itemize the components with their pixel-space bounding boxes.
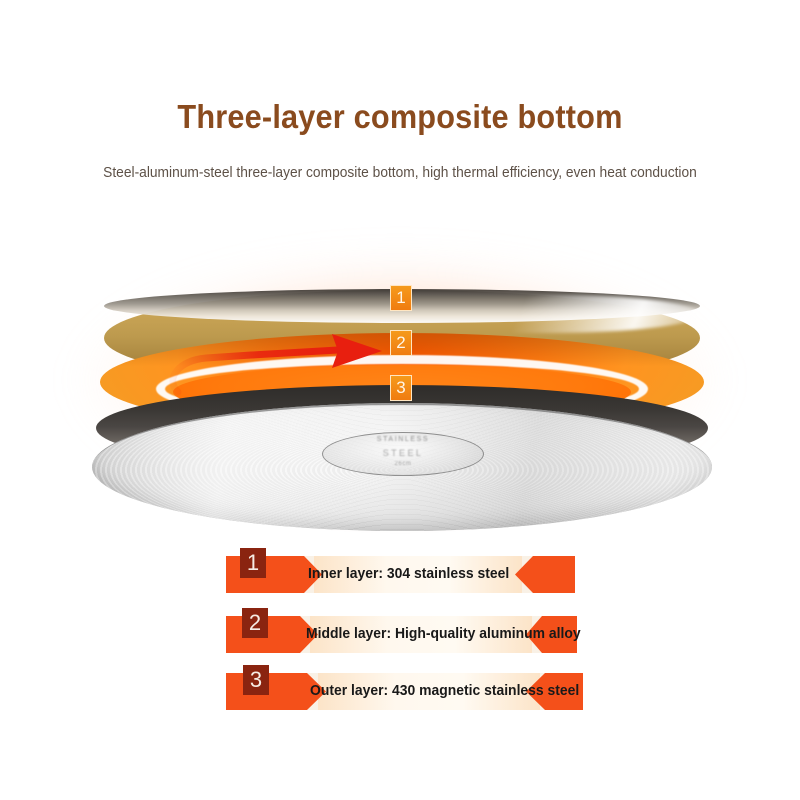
emblem-top-text: STAINLESS	[323, 436, 483, 443]
layer-legend: Inner layer: 304 stainless steel Middle …	[0, 540, 800, 720]
heat-flow-arrow-icon	[150, 330, 390, 410]
legend-label-2: Middle layer: High-quality aluminum allo…	[306, 616, 581, 653]
page-title: Three-layer composite bottom	[28, 0, 772, 136]
diagram-callout-3[interactable]: 3	[390, 375, 412, 401]
diagram-callout-1[interactable]: 1	[390, 285, 412, 311]
inner-disc-highlight	[400, 295, 700, 333]
header: Three-layer composite bottom Steel-alumi…	[0, 0, 800, 181]
emblem-sub-text: 26cm	[323, 461, 483, 467]
legend-label-1: Inner layer: 304 stainless steel	[308, 556, 509, 593]
legend-row-2[interactable]: Middle layer: High-quality aluminum allo…	[226, 616, 577, 653]
infographic-page: Three-layer composite bottom Steel-alumi…	[0, 0, 800, 800]
engraved-emblem: STAINLESS STEEL 26cm	[322, 432, 484, 476]
legend-badge-2: 2	[242, 608, 268, 638]
diagram-callout-2[interactable]: 2	[390, 330, 412, 356]
emblem-mid-text: STEEL	[323, 448, 483, 458]
legend-label-3: Outer layer: 430 magnetic stainless stee…	[310, 673, 579, 710]
legend-bar-2-left-arrow	[226, 616, 318, 653]
legend-row-3[interactable]: Outer layer: 430 magnetic stainless stee…	[226, 673, 583, 710]
legend-bar-1-right-arrow	[515, 556, 575, 593]
page-subtitle: Steel-aluminum-steel three-layer composi…	[20, 136, 780, 181]
legend-row-1[interactable]: Inner layer: 304 stainless steel	[226, 556, 575, 593]
legend-badge-3: 3	[243, 665, 269, 695]
legend-badge-1: 1	[240, 548, 266, 578]
